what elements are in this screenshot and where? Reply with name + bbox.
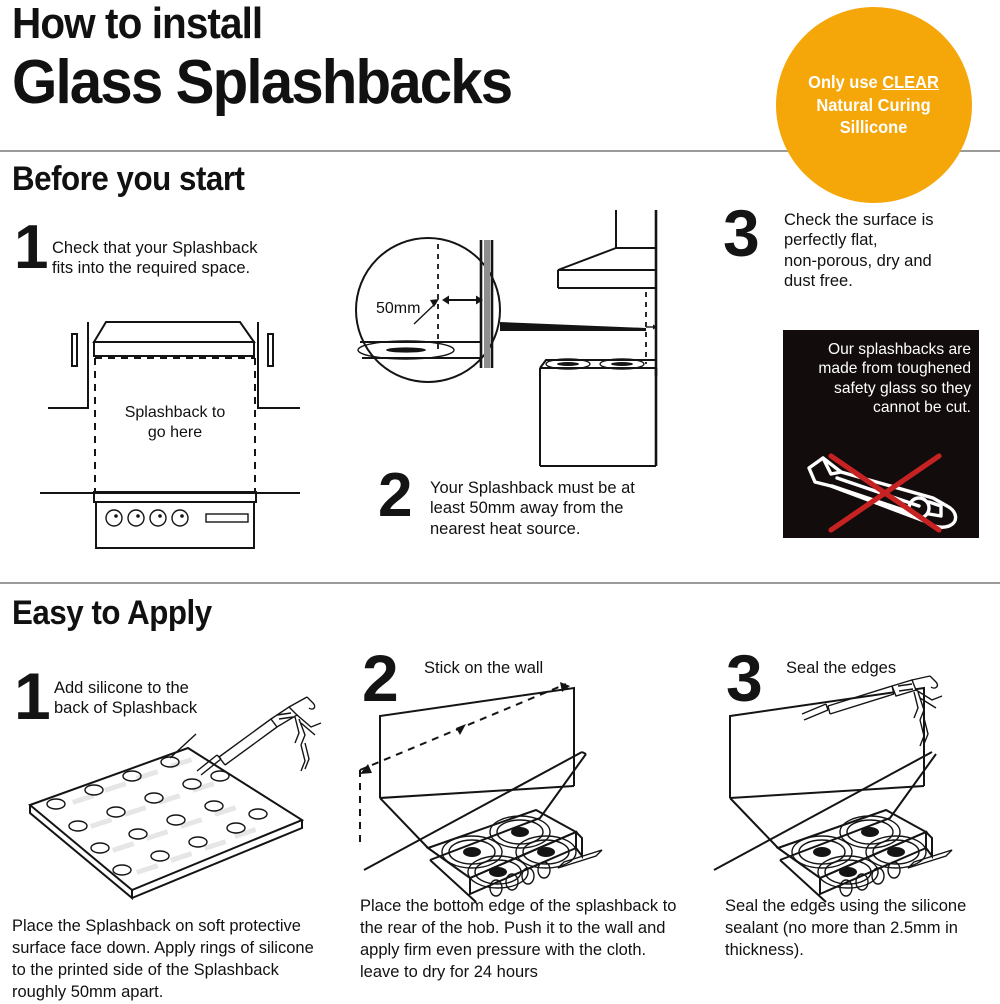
caption-apply-2: Place the bottom edge of the splashback … [360,896,680,984]
page-title-line-2: Glass Splashbacks [12,52,764,114]
badge-line-1-prefix: Only use [809,72,883,92]
callout-50mm: 50mm [376,300,420,318]
step-text-before-2: Your Splashback must be at least 50mm aw… [430,478,700,539]
caption-apply-1: Place the Splashback on soft protective … [12,916,332,1004]
warning-box-text: Our splashbacks are made from toughened … [791,340,971,417]
badge-line-1-emphasis: CLEAR [883,72,940,92]
step-text-apply-2: Stick on the wall [424,658,674,678]
badge-text: Only use CLEAR Natural Curing Sillicone [809,71,940,138]
caption-apply-3: Seal the edges using the silicone sealan… [725,896,995,962]
caulking-gun-icon-apply-1 [195,693,345,783]
step-number-before-1: 1 [14,222,45,275]
section-heading-before-you-start: Before you start [12,160,245,199]
step-text-before-3: Check the surface is perfectly flat, non… [784,210,994,291]
diagram-label-splashback-here: Splashback to go here [100,403,250,443]
diagram-apply-2 [350,680,690,895]
diagram-before-2 [350,200,690,480]
step-text-before-1: Check that your Splashback fits into the… [52,238,312,279]
page-title-line-1: How to install [12,2,711,46]
section-heading-easy-to-apply: Easy to Apply [12,594,212,633]
clear-silicone-badge: Only use CLEAR Natural Curing Sillicone [776,7,972,203]
warning-box-cannot-be-cut: Our splashbacks are made from toughened … [783,330,979,538]
badge-line-2: Natural Curing [817,95,931,115]
badge-line-3: Sillicone [840,117,908,137]
step-number-before-2: 2 [378,470,409,523]
caulking-gun-icon-apply-3 [800,672,960,762]
divider-middle [0,582,1000,584]
utility-knife-prohibited-icon [801,448,967,534]
diagram-label-line-2: go here [148,424,202,441]
step-number-before-3: 3 [723,205,757,261]
diagram-label-line-1: Splashback to [125,404,226,421]
